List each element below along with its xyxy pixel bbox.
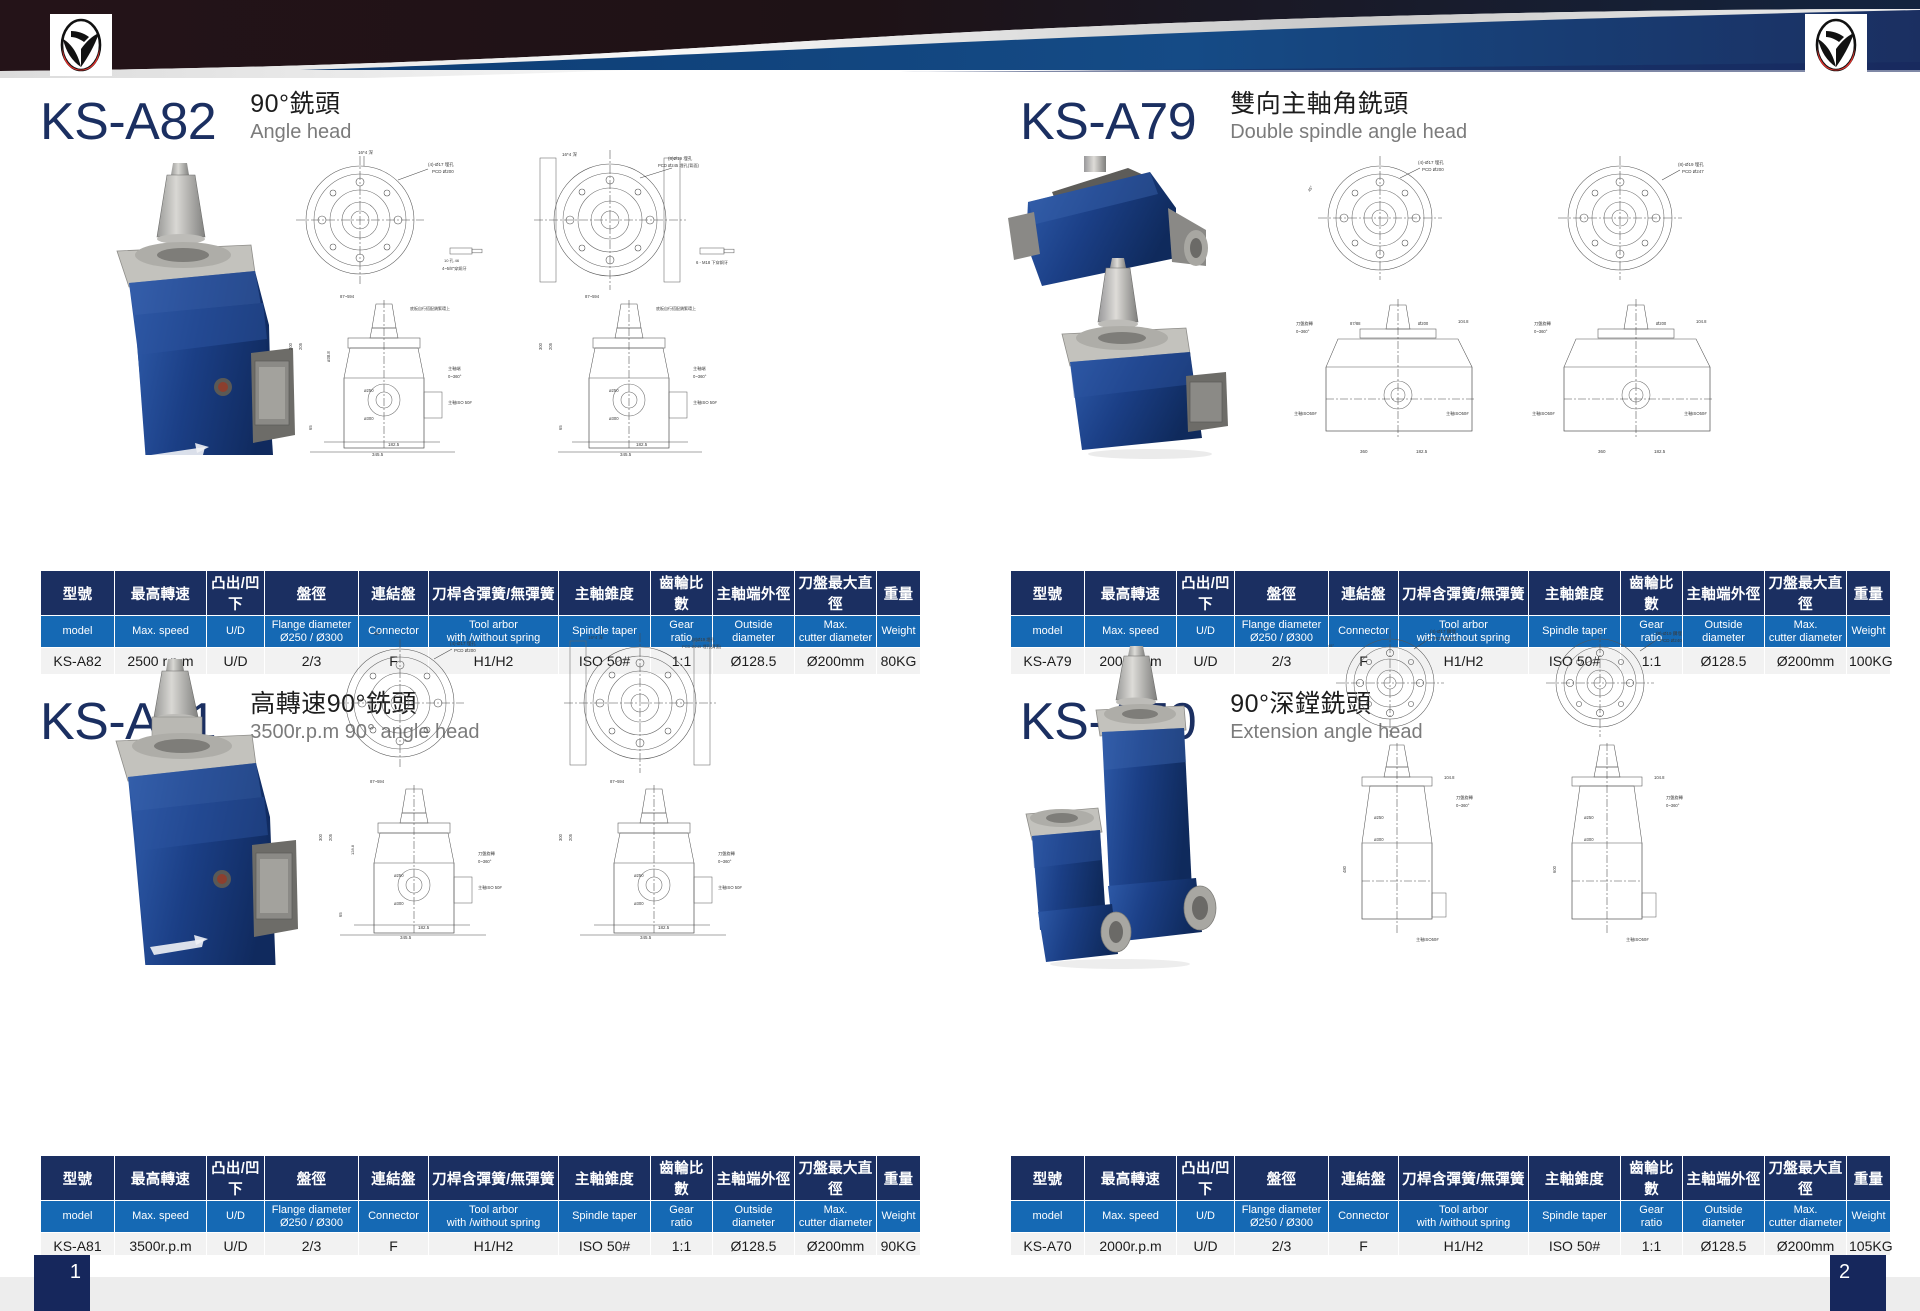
svg-text:104.8: 104.8 [1458, 319, 1469, 324]
th-cn-8: 主軸端外徑 [1683, 571, 1765, 616]
svg-text:16*4 深: 16*4 深 [358, 150, 374, 156]
svg-text:345.5: 345.5 [640, 935, 652, 940]
svg-text:Ø200: Ø200 [1656, 321, 1667, 326]
svg-text:刀盤旋轉: 刀盤旋轉 [1296, 320, 1314, 327]
svg-text:104.8: 104.8 [1654, 775, 1665, 780]
th-cn-9: 刀盤最大直徑 [1765, 1156, 1847, 1201]
svg-text:ø300: ø300 [394, 901, 404, 906]
th-cn-5: 刀桿含彈簧/無彈簧 [1399, 1156, 1529, 1201]
th-cn-2: 凸出/凹下 [207, 1156, 265, 1201]
th-en-line: Max. [824, 619, 848, 631]
table-header-row-cn: 型號 最高轉速 凸出/凹下 盤徑 連結盤 刀桿含彈簧/無彈簧 主軸錐度 齒輪比數… [41, 1156, 921, 1201]
svg-text:0~360°: 0~360° [1534, 329, 1548, 334]
svg-text:(4)-Ø17 埋孔: (4)-Ø17 埋孔 [450, 640, 476, 647]
th-cn-0: 型號 [1011, 1156, 1085, 1201]
product-block-ks-a79: KS-A79 雙向主軸角銑頭 Double spindle angle head [1020, 90, 1900, 148]
svg-text:底板自行搭配鎖緊環上: 底板自行搭配鎖緊環上 [656, 305, 696, 311]
th-en-3: Flange diameterØ250 / Ø300 [1235, 1201, 1329, 1233]
th-en-9: Max.cutter diameter [795, 1201, 877, 1233]
th-cn-4: 連結盤 [1329, 571, 1399, 616]
svg-text:(8)Ø19 埋孔: (8)Ø19 埋孔 [668, 155, 693, 162]
cell-weight: 100KG [1847, 648, 1891, 675]
svg-text:182.5: 182.5 [658, 925, 670, 930]
product-photo-ks-a70 [1000, 640, 1260, 970]
svg-text:0~360°: 0~360° [1456, 803, 1470, 808]
th-en-line: Max. [1794, 619, 1818, 631]
svg-text:ø300: ø300 [1374, 837, 1384, 842]
kingsun-logo-icon [54, 17, 108, 73]
th-en-2: U/D [1177, 1201, 1235, 1233]
th-cn-7: 齒輪比數 [651, 1156, 713, 1201]
spec-table-ks-a70: 型號 最高轉速 凸出/凹下 盤徑 連結盤 刀桿含彈簧/無彈簧 主軸錐度 齒輪比數… [1010, 1155, 1891, 1260]
svg-text:104.8: 104.8 [1696, 319, 1707, 324]
th-en-line: Max. speed [1102, 1210, 1159, 1222]
brand-logo-left [50, 14, 112, 76]
th-en-4: Connector [359, 1201, 429, 1233]
cell-cutter: Ø200mm [795, 648, 877, 675]
svg-text:182.5: 182.5 [388, 442, 400, 447]
th-en-line: cutter diameter [799, 1217, 872, 1229]
th-en-0: model [41, 616, 115, 648]
th-en-line: ratio [1641, 1217, 1662, 1229]
svg-text:360: 360 [1598, 449, 1606, 454]
th-en-1: Max. speed [1085, 1201, 1177, 1233]
th-en-line: ratio [671, 1217, 692, 1229]
svg-text:Ø200: Ø200 [1418, 321, 1429, 326]
svg-text:底板自行搭配鎖緊環上: 底板自行搭配鎖緊環上 [410, 305, 450, 311]
svg-text:87~594: 87~594 [370, 779, 385, 784]
product-model: KS-A79 [1020, 96, 1196, 148]
svg-text:345.5: 345.5 [372, 452, 384, 457]
table-header-row-cn: 型號 最高轉速 凸出/凹下 盤徑 連結盤 刀桿含彈簧/無彈簧 主軸錐度 齒輪比數… [41, 571, 921, 616]
th-cn-3: 盤徑 [1235, 1156, 1329, 1201]
th-cn-4: 連結盤 [359, 1156, 429, 1201]
svg-text:65: 65 [308, 425, 313, 430]
th-en-3: Flange diameterØ250 / Ø300 [265, 1201, 359, 1233]
th-cn-5: 刀桿含彈簧/無彈簧 [1399, 571, 1529, 616]
svg-text:182.5: 182.5 [418, 925, 430, 930]
svg-text:205: 205 [298, 342, 303, 350]
th-en-line: with /without spring [447, 1217, 541, 1229]
svg-text:87~594: 87~594 [585, 294, 600, 299]
th-en-10: Weight [877, 1201, 921, 1233]
svg-text:主軸ISO50#: 主軸ISO50# [1294, 410, 1317, 417]
th-en-line: Max. [824, 1204, 848, 1216]
th-cn-10: 重量 [877, 571, 921, 616]
svg-text:205: 205 [328, 833, 333, 841]
th-en-line: Gear [669, 1204, 693, 1216]
svg-text:0~360°: 0~360° [718, 859, 732, 864]
th-en-line: Gear [1639, 1204, 1663, 1216]
table-header-row-en: model Max. speed U/D Flange diameterØ250… [41, 1201, 921, 1233]
th-cn-6: 主軸錐度 [559, 571, 651, 616]
svg-text:45°: 45° [374, 631, 381, 636]
svg-text:刀盤旋轉: 刀盤旋轉 [1534, 320, 1552, 327]
th-cn-0: 型號 [1011, 571, 1085, 616]
svg-text:6 - M18 下穿銅牙: 6 - M18 下穿銅牙 [696, 259, 728, 266]
th-en-line: Flange diameter [272, 1204, 352, 1216]
svg-text:(8)-Ø19 鑽埋: (8)-Ø19 鑽埋 [1656, 630, 1682, 637]
svg-text:ø300: ø300 [609, 416, 619, 421]
svg-text:0~360°: 0~360° [448, 374, 462, 379]
svg-text:ø300: ø300 [1584, 837, 1594, 842]
svg-text:345.5: 345.5 [400, 935, 412, 940]
product-photo-ks-a79 [1000, 150, 1250, 460]
svg-text:主軸ISO 50#: 主軸ISO 50# [718, 884, 742, 891]
svg-text:480: 480 [1342, 865, 1347, 873]
th-cn-2: 凸出/凹下 [1177, 571, 1235, 616]
th-en-line: U/D [226, 625, 245, 637]
product-title-row: KS-A82 90°銑頭 Angle head [40, 90, 930, 148]
svg-text:0~360°: 0~360° [1666, 803, 1680, 808]
th-cn-4: 連結盤 [359, 571, 429, 616]
svg-text:ø250: ø250 [634, 873, 644, 878]
th-en-line: model [63, 625, 93, 637]
svg-text:PCD Ø245 埋孔(背面): PCD Ø245 埋孔(背面) [658, 162, 700, 169]
th-en-line: U/D [1196, 1210, 1215, 1222]
th-en-0: model [1011, 1201, 1085, 1233]
svg-text:(8)Ø19 埋孔: (8)Ø19 埋孔 [692, 636, 715, 643]
svg-text:PCD Ø240: PCD Ø240 [1660, 638, 1682, 643]
th-en-line: U/D [226, 1210, 245, 1222]
svg-text:ø250: ø250 [394, 873, 404, 878]
product-photo-ks-a82 [55, 155, 305, 455]
svg-text:300: 300 [538, 342, 543, 350]
th-cn-10: 重量 [1847, 571, 1891, 616]
svg-text:主軸ISO 50#: 主軸ISO 50# [693, 399, 717, 406]
th-cn-3: 盤徑 [265, 571, 359, 616]
product-title-cn: 90°銑頭 [250, 90, 351, 119]
technical-drawing-ks-a70: (4)-Ø17 鑽埋 PCD Ø200 45° (8)-Ø19 鑽埋 PCD Ø… [1280, 625, 1750, 945]
th-cn-5: 刀桿含彈簧/無彈簧 [429, 1156, 559, 1201]
svg-text:ø300: ø300 [364, 416, 374, 421]
page-number-right: 2 [1830, 1255, 1886, 1311]
svg-text:16*4 深: 16*4 深 [562, 151, 578, 158]
th-en-10: Weight [877, 616, 921, 648]
th-cn-3: 盤徑 [1235, 571, 1329, 616]
th-cn-7: 齒輪比數 [651, 571, 713, 616]
th-en-8: Outsidediameter [713, 1201, 795, 1233]
th-en-9: Max.cutter diameter [795, 616, 877, 648]
svg-text:45°: 45° [1307, 184, 1315, 192]
th-en-line: Tool arbor [469, 1204, 518, 1216]
th-en-line: cutter diameter [1769, 1217, 1842, 1229]
th-en-line: model [1033, 1210, 1063, 1222]
th-cn-0: 型號 [41, 571, 115, 616]
th-cn-9: 刀盤最大直徑 [795, 1156, 877, 1201]
svg-text:ø38.8: ø38.8 [326, 351, 331, 362]
svg-text:4~5/8"穿銅牙: 4~5/8"穿銅牙 [442, 265, 467, 272]
svg-text:300: 300 [558, 833, 563, 841]
th-cn-6: 主軸錐度 [1529, 571, 1621, 616]
svg-text:刀盤旋轉: 刀盤旋轉 [1666, 794, 1684, 801]
th-cn-2: 凸出/凹下 [207, 571, 265, 616]
th-en-5: Tool arborwith /without spring [429, 1201, 559, 1233]
svg-text:主軸端: 主軸端 [693, 365, 706, 372]
th-en-line: Weight [1851, 625, 1885, 637]
svg-text:345.5: 345.5 [620, 452, 632, 457]
kingsun-logo-icon [1809, 17, 1863, 73]
th-cn-6: 主軸錐度 [1529, 1156, 1621, 1201]
th-en-line: Max. [1794, 1204, 1818, 1216]
product-model: KS-A82 [40, 96, 216, 148]
table-header-row-cn: 型號 最高轉速 凸出/凹下 盤徑 連結盤 刀桿含彈簧/無彈簧 主軸錐度 齒輪比數… [1011, 571, 1891, 616]
svg-text:128.8: 128.8 [350, 844, 355, 855]
th-en-8: Outsidediameter [1683, 1201, 1765, 1233]
th-en-line: Outside [735, 1204, 773, 1216]
svg-text:182.5: 182.5 [1654, 449, 1666, 454]
th-en-7: Gearratio [651, 1201, 713, 1233]
brand-logo-right [1805, 14, 1867, 76]
svg-text:87~594: 87~594 [340, 294, 355, 299]
th-cn-2: 凸出/凹下 [1177, 1156, 1235, 1201]
cell-cutter: Ø200mm [1765, 648, 1847, 675]
th-cn-1: 最高轉速 [115, 1156, 207, 1201]
svg-text:65: 65 [558, 425, 563, 430]
th-en-2: U/D [207, 616, 265, 648]
svg-text:主軸ISO50#: 主軸ISO50# [1532, 410, 1555, 417]
svg-text:0~360°: 0~360° [693, 374, 707, 379]
footer-white-strip [0, 1255, 1920, 1277]
header-swoosh-graphic [0, 0, 1920, 78]
svg-text:主軸ISO50#: 主軸ISO50# [1626, 936, 1649, 943]
svg-text:PCD Ø200: PCD Ø200 [432, 169, 454, 174]
th-en-line: Weight [881, 625, 915, 637]
svg-text:主軸ISO50#: 主軸ISO50# [1684, 410, 1707, 417]
svg-text:ø250: ø250 [1584, 815, 1594, 820]
svg-text:(4)-Ø17 埋孔: (4)-Ø17 埋孔 [428, 161, 454, 168]
th-en-line: Spindle taper [1542, 1210, 1607, 1222]
th-en-line: Tool arbor [1439, 1204, 1488, 1216]
svg-text:65: 65 [338, 912, 343, 917]
th-en-line: Max. speed [132, 1210, 189, 1222]
svg-text:ø250: ø250 [1374, 815, 1384, 820]
th-cn-8: 主軸端外徑 [713, 1156, 795, 1201]
svg-text:300: 300 [288, 342, 293, 350]
th-cn-1: 最高轉速 [115, 571, 207, 616]
svg-text:刀盤旋轉: 刀盤旋轉 [1456, 794, 1474, 801]
svg-text:主軸ISO50#: 主軸ISO50# [1416, 936, 1439, 943]
svg-text:主軸ISO 50#: 主軸ISO 50# [478, 884, 502, 891]
svg-text:45°: 45° [1328, 643, 1334, 648]
th-en-line: Connector [1338, 1210, 1389, 1222]
svg-text:主軸ISO 50#: 主軸ISO 50# [448, 399, 472, 406]
product-block-ks-a82: KS-A82 90°銑頭 Angle head [40, 90, 930, 148]
svg-text:205: 205 [548, 342, 553, 350]
th-cn-7: 齒輪比數 [1621, 1156, 1683, 1201]
product-title-en: Double spindle angle head [1230, 120, 1467, 145]
th-en-line: model [1033, 625, 1063, 637]
th-en-line: Max. speed [1102, 625, 1159, 637]
svg-text:205: 205 [568, 833, 573, 841]
th-en-6: Spindle taper [559, 1201, 651, 1233]
technical-drawing-ks-a79: (4)-Ø17 埋孔 PCD Ø200 45° (8)-Ø19 埋孔 PCD Ø… [1270, 150, 1750, 460]
table-header-row-en: model Max. speed U/D Flange diameterØ250… [1011, 1201, 1891, 1233]
spec-table-ks-a81: 型號 最高轉速 凸出/凹下 盤徑 連結盤 刀桿含彈簧/無彈簧 主軸錐度 齒輪比數… [40, 1155, 921, 1260]
spec-table-wrapper-ks-a70: 型號 最高轉速 凸出/凹下 盤徑 連結盤 刀桿含彈簧/無彈簧 主軸錐度 齒輪比數… [1010, 1155, 1890, 1260]
th-en-line: cutter diameter [1769, 632, 1842, 644]
th-cn-10: 重量 [877, 1156, 921, 1201]
th-cn-0: 型號 [41, 1156, 115, 1201]
th-en-5: Tool arborwith /without spring [1399, 1201, 1529, 1233]
th-cn-9: 刀盤最大直徑 [795, 571, 877, 616]
th-en-0: model [41, 1201, 115, 1233]
th-cn-8: 主軸端外徑 [713, 571, 795, 616]
th-cn-6: 主軸錐度 [559, 1156, 651, 1201]
th-en-line: with /without spring [1417, 1217, 1511, 1229]
th-en-line: cutter diameter [799, 632, 872, 644]
th-en-9: Max.cutter diameter [1765, 616, 1847, 648]
th-en-7: Gearratio [1621, 1201, 1683, 1233]
svg-text:刀盤旋轉: 刀盤旋轉 [478, 850, 496, 857]
svg-text:10 孔 46: 10 孔 46 [444, 257, 460, 263]
svg-text:87/88: 87/88 [1350, 321, 1361, 326]
svg-text:182.5: 182.5 [1416, 449, 1428, 454]
svg-text:刀盤旋轉: 刀盤旋轉 [718, 850, 736, 857]
th-en-6: Spindle taper [1529, 1201, 1621, 1233]
th-en-line: Max. speed [132, 625, 189, 637]
th-en-line: Outside [1705, 1204, 1743, 1216]
table-header-row-cn: 型號 最高轉速 凸出/凹下 盤徑 連結盤 刀桿含彈簧/無彈簧 主軸錐度 齒輪比數… [1011, 1156, 1891, 1201]
svg-text:0~360°: 0~360° [1296, 329, 1310, 334]
th-cn-3: 盤徑 [265, 1156, 359, 1201]
technical-drawing-ks-a82: 16*4 深 (4)-Ø17 埋孔 PCD Ø200 16 [280, 150, 780, 460]
svg-text:PCD Ø245 埋孔(背面): PCD Ø245 埋孔(背面) [682, 643, 722, 649]
cell-weight: 80KG [877, 648, 921, 675]
svg-text:PCD Ø200: PCD Ø200 [1422, 167, 1444, 172]
th-cn-10: 重量 [1847, 1156, 1891, 1201]
th-en-line: model [63, 1210, 93, 1222]
svg-text:(4)-Ø17 埋孔: (4)-Ø17 埋孔 [1418, 159, 1444, 166]
th-en-2: U/D [207, 1201, 265, 1233]
th-en-line: U/D [1196, 625, 1215, 637]
th-en-1: Max. speed [115, 616, 207, 648]
svg-text:360: 360 [1360, 449, 1368, 454]
product-title-en: Angle head [250, 120, 351, 145]
th-en-line: Weight [1851, 1210, 1885, 1222]
svg-text:(4)-Ø17 鑽埋: (4)-Ø17 鑽埋 [1430, 628, 1456, 635]
svg-text:ø250: ø250 [609, 388, 619, 393]
th-cn-5: 刀桿含彈簧/無彈簧 [429, 571, 559, 616]
page-number-left: 1 [34, 1255, 90, 1311]
svg-text:600: 600 [1552, 865, 1557, 873]
th-cn-9: 刀盤最大直徑 [1765, 571, 1847, 616]
svg-text:PCD Ø200: PCD Ø200 [454, 648, 476, 653]
th-cn-7: 齒輪比數 [1621, 571, 1683, 616]
catalog-page: KS-A82 90°銑頭 Angle head [0, 0, 1920, 1311]
th-en-9: Max.cutter diameter [1765, 1201, 1847, 1233]
th-en-line: Connector [368, 1210, 419, 1222]
product-title-row: KS-A79 雙向主軸角銑頭 Double spindle angle head [1020, 90, 1900, 148]
th-en-line: diameter [732, 1217, 775, 1229]
product-title-cn: 雙向主軸角銑頭 [1230, 90, 1467, 119]
th-cn-1: 最高轉速 [1085, 1156, 1177, 1201]
svg-text:300: 300 [318, 833, 323, 841]
th-en-10: Weight [1847, 616, 1891, 648]
th-en-line: Weight [881, 1210, 915, 1222]
th-en-line: Spindle taper [572, 1210, 637, 1222]
th-en-10: Weight [1847, 1201, 1891, 1233]
svg-text:16*4 深: 16*4 深 [588, 634, 604, 641]
th-cn-8: 主軸端外徑 [1683, 1156, 1765, 1201]
svg-text:主軸ISO50#: 主軸ISO50# [1446, 410, 1469, 417]
th-en-1: Max. speed [115, 1201, 207, 1233]
svg-text:104.8: 104.8 [1444, 775, 1455, 780]
th-en-line: Flange diameter [1242, 1204, 1322, 1216]
svg-text:87~594: 87~594 [610, 779, 625, 784]
svg-text:PCD Ø247: PCD Ø247 [1682, 169, 1704, 174]
svg-text:ø250: ø250 [364, 388, 374, 393]
svg-text:0~360°: 0~360° [478, 859, 492, 864]
svg-text:PCD Ø200: PCD Ø200 [1434, 636, 1456, 641]
th-en-4: Connector [1329, 1201, 1399, 1233]
spec-table-wrapper-ks-a81: 型號 最高轉速 凸出/凹下 盤徑 連結盤 刀桿含彈簧/無彈簧 主軸錐度 齒輪比數… [40, 1155, 920, 1260]
technical-drawing-ks-a81: 45° (4)-Ø17 埋孔 PCD Ø200 16*4 深 (8)Ø19 埋孔… [300, 625, 790, 945]
th-en-line: Ø250 / Ø300 [280, 1217, 343, 1229]
footer-grey-bar [0, 1277, 1920, 1311]
svg-text:ø300: ø300 [634, 901, 644, 906]
svg-text:主軸端: 主軸端 [448, 365, 461, 372]
th-cn-1: 最高轉速 [1085, 571, 1177, 616]
svg-text:182.5: 182.5 [636, 442, 648, 447]
th-cn-4: 連結盤 [1329, 1156, 1399, 1201]
th-en-line: diameter [1702, 1217, 1745, 1229]
product-photo-ks-a81 [80, 645, 330, 965]
svg-text:(8)-Ø19 埋孔: (8)-Ø19 埋孔 [1678, 161, 1704, 168]
page-header-banner [0, 0, 1920, 78]
th-en-line: Ø250 / Ø300 [1250, 1217, 1313, 1229]
